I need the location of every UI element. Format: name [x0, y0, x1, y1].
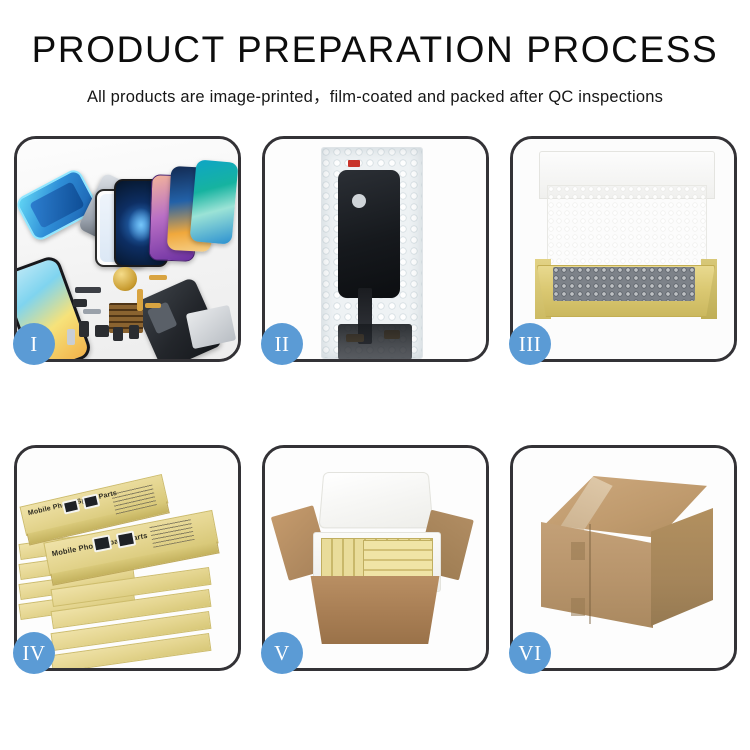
part-strip-3 [137, 289, 143, 311]
step-image-2 [265, 139, 486, 359]
step-badge-5: V [261, 632, 303, 674]
steps-grid: I II [14, 136, 737, 681]
step-panel-5: V [262, 445, 489, 671]
step-badge-3: III [509, 323, 551, 365]
step-image-6 [513, 448, 734, 668]
step-image-4: Mobile Phone Spare Parts Mobile Phone Sp… [17, 448, 238, 668]
part-strip-4 [83, 309, 101, 314]
page-title: PRODUCT PREPARATION PROCESS [0, 30, 750, 71]
part-chip-6 [73, 299, 87, 307]
step-panel-3: III [510, 136, 737, 362]
part-strip-5 [145, 303, 161, 308]
step-badge-6: VI [509, 632, 551, 674]
step-image-3 [513, 139, 734, 359]
foam-sheet-icon [547, 185, 707, 267]
part-strip-1 [75, 287, 101, 293]
red-label-icon [348, 160, 360, 167]
part-strip-2 [149, 275, 167, 280]
carton-sticker-bottom-icon [571, 598, 585, 616]
step-panel-6: VI [510, 445, 737, 671]
step-panel-4: Mobile Phone Spare Parts Mobile Phone Sp… [14, 445, 241, 671]
phone-screens-scene [17, 139, 238, 359]
camera-module-icon [352, 194, 366, 208]
lcd-screen-icon [338, 170, 400, 298]
gold-boxes-row-2-icon [363, 540, 433, 582]
stacked-boxes-scene: Mobile Phone Spare Parts Mobile Phone Sp… [17, 448, 238, 668]
step-badge-4: IV [13, 632, 55, 674]
step-badge-1: I [13, 323, 55, 365]
carton-sticker-top-icon [571, 542, 585, 560]
part-chip-5 [67, 329, 75, 345]
speaker-part-icon [113, 267, 137, 291]
sealed-carton-scene [513, 448, 734, 668]
open-carton-scene [265, 448, 486, 668]
bubble-bag-scene [265, 139, 486, 359]
header: PRODUCT PREPARATION PROCESS All products… [0, 0, 750, 107]
step-panel-1: I [14, 136, 241, 362]
carton-body-icon [305, 576, 445, 644]
carton-front-face-icon [541, 522, 653, 628]
part-chip-2 [95, 325, 109, 337]
step-panel-2: II [262, 136, 489, 362]
part-chip-1 [79, 321, 89, 337]
part-chip-3 [113, 327, 123, 341]
bubble-wrap-bag-icon [321, 147, 423, 359]
teal-phone-icon [190, 159, 238, 244]
foam-lid-icon [318, 472, 433, 528]
carton-seam-icon [589, 524, 591, 624]
part-chip-4 [129, 325, 139, 339]
tool-tray-icon [186, 305, 237, 349]
product-preparation-infographic: PRODUCT PREPARATION PROCESS All products… [0, 0, 750, 750]
grey-bubble-wrap-icon [553, 267, 695, 301]
page-subtitle: All products are image-printed，film-coat… [0, 83, 750, 107]
step-image-1 [17, 139, 238, 359]
step-image-5 [265, 448, 486, 668]
open-gold-box-scene [513, 139, 734, 359]
lcd-bottom-assembly-icon [338, 324, 412, 359]
step-badge-2: II [261, 323, 303, 365]
